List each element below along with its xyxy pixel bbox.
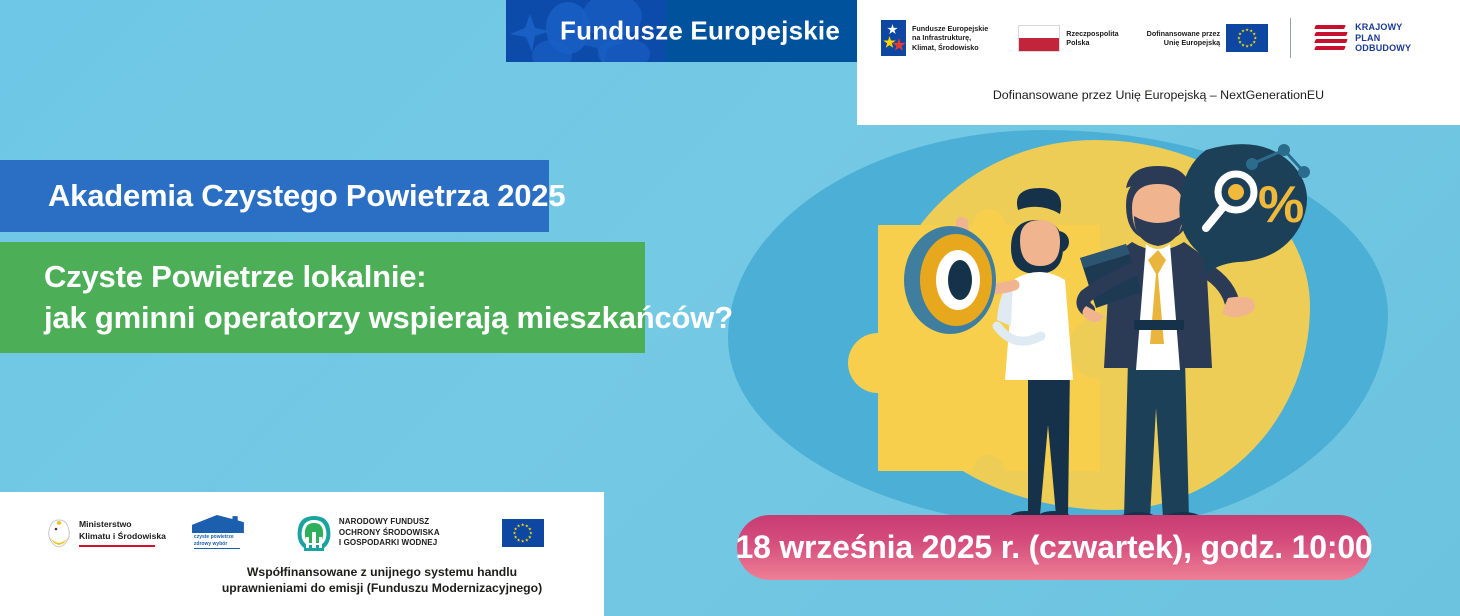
polish-eagle-icon <box>44 517 74 549</box>
nfosigw-text: NARODOWY FUNDUSZ OCHRONY ŚRODOWISKA I GO… <box>339 517 440 549</box>
house-icon <box>192 515 244 533</box>
academy-title-block: Akademia Czystego Powietrza 2025 <box>0 160 549 232</box>
topic-title-line2: jak gminni operatorzy wspierają mieszkań… <box>0 298 645 339</box>
logo-divider <box>1290 18 1291 58</box>
logo-fe-infrastruktura-text: Fundusze Europejskie na Infrastrukturę, … <box>912 24 988 52</box>
mk-text: Ministerstwo Klimatu i Środowiska <box>79 519 166 541</box>
event-date-text: 18 września 2025 r. (czwartek), godz. 10… <box>735 529 1372 566</box>
logo-fundusze-europejskie-infrastruktura: Fundusze Europejskie na Infrastrukturę, … <box>881 20 988 56</box>
poland-flag-icon <box>1018 25 1060 52</box>
cp-line1: czyste powietrze <box>194 534 234 540</box>
kpo-mark-icon <box>1315 23 1349 53</box>
footer-caption-line2: uprawnieniami do emisji (Funduszu Modern… <box>160 580 604 596</box>
cp-rule <box>194 548 240 549</box>
topic-title-line1: Czyste Powietrze lokalnie: <box>0 257 645 298</box>
logo-ministerstwo-klimatu: Ministerstwo Klimatu i Środowiska <box>44 517 166 549</box>
event-date-badge: 18 września 2025 r. (czwartek), godz. 10… <box>737 515 1371 580</box>
topic-title-block: Czyste Powietrze lokalnie: jak gminni op… <box>0 242 645 353</box>
footer-caption-line1: Współfinansowane z unijnego systemu hand… <box>160 564 604 580</box>
fe-bar-label: Fundusze Europejskie <box>560 16 840 47</box>
fundusze-europejskie-bar: Fundusze Europejskie <box>506 0 858 62</box>
eu-flag-icon-footer <box>502 519 544 547</box>
logo-krajowy-plan-odbudowy: KRAJOWY PLAN ODBUDOWY <box>1315 22 1411 53</box>
cp-line2: zdrowy wybór <box>194 541 227 547</box>
footer-logo-panel: Ministerstwo Klimatu i Środowiska czyste… <box>0 492 604 616</box>
eu-stars-flag-icon <box>881 20 906 56</box>
academy-title-text: Akademia Czystego Powietrza 2025 <box>0 178 565 214</box>
footer-logo-row: Ministerstwo Klimatu i Środowiska czyste… <box>0 510 604 556</box>
logo-dofinansowane-text: Dofinansowane przez Unię Europejską <box>1147 29 1220 47</box>
kpo-text: KRAJOWY PLAN ODBUDOWY <box>1355 22 1411 53</box>
logo-nfosigw: NARODOWY FUNDUSZ OCHRONY ŚRODOWISKA I GO… <box>296 515 440 551</box>
header-funding-caption: Dofinansowane przez Unię Europejską – Ne… <box>857 88 1460 102</box>
footer-funding-caption: Współfinansowane z unijnego systemu hand… <box>160 564 604 597</box>
logo-czyste-powietrze: czyste powietrze zdrowy wybór <box>192 515 244 551</box>
mk-red-rule <box>79 545 155 547</box>
illustration-people-puzzle: % <box>728 130 1428 530</box>
header-logo-panel: Fundusze Europejskie na Infrastrukturę, … <box>857 0 1460 125</box>
logo-rzeczpospolita-polska: Rzeczpospolita Polska <box>1018 25 1118 52</box>
logo-dofinansowane-ue: Dofinansowane przez Unię Europejską <box>1147 24 1268 52</box>
banner-root: % Fundusze Europejskie Fundusze <box>0 0 1460 616</box>
logo-rp-text: Rzeczpospolita Polska <box>1066 29 1118 47</box>
svg-text:%: % <box>1258 176 1304 234</box>
eu-flag-icon <box>1226 24 1268 52</box>
header-logo-row: Fundusze Europejskie na Infrastrukturę, … <box>857 14 1460 62</box>
nfosigw-tree-icon <box>296 515 332 551</box>
